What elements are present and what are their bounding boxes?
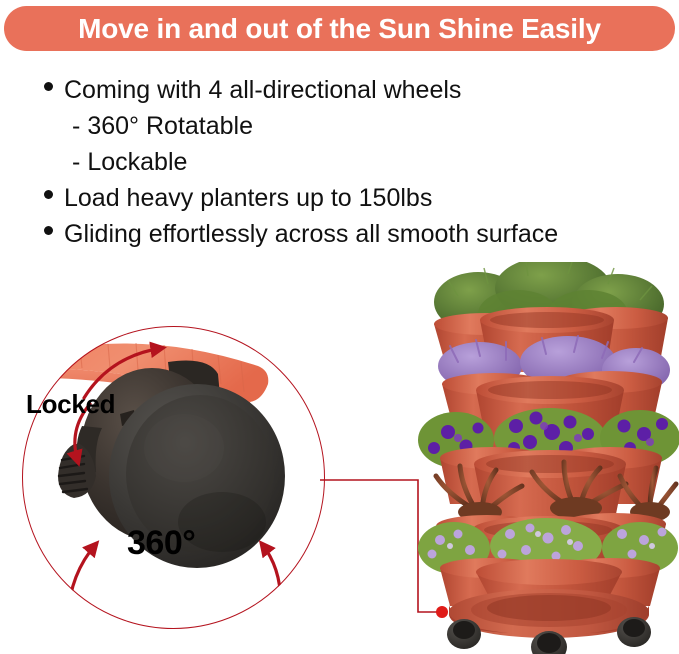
bullet-icon [44,226,53,235]
caster-wheel-callout [22,326,325,629]
list-item-label: Lockable [87,144,187,180]
page-title: Move in and out of the Sun Shine Easily [78,15,601,43]
list-item-label: 360° Rotatable [87,108,253,144]
bullet-icon [44,190,53,199]
list-item: Load heavy planters up to 150lbs [44,180,674,216]
list-item: - 360° Rotatable [44,108,674,144]
dash-icon: - [72,108,80,144]
list-item-label: Coming with 4 all-directional wheels [64,72,461,108]
feature-list: Coming with 4 all-directional wheels - 3… [44,72,674,252]
list-item-label: Load heavy planters up to 150lbs [64,180,432,216]
header-banner: Move in and out of the Sun Shine Easily [4,6,675,51]
dash-icon: - [72,144,80,180]
locked-label: Locked [26,389,115,420]
list-item: Coming with 4 all-directional wheels [44,72,674,108]
rotation-label: 360° [127,524,195,563]
list-item: Gliding effortlessly across all smooth s… [44,216,674,252]
callout-ring [22,326,325,629]
list-item-label: Gliding effortlessly across all smooth s… [64,216,558,252]
planter-tower-image [418,262,679,654]
bullet-icon [44,82,53,91]
list-item: - Lockable [44,144,674,180]
